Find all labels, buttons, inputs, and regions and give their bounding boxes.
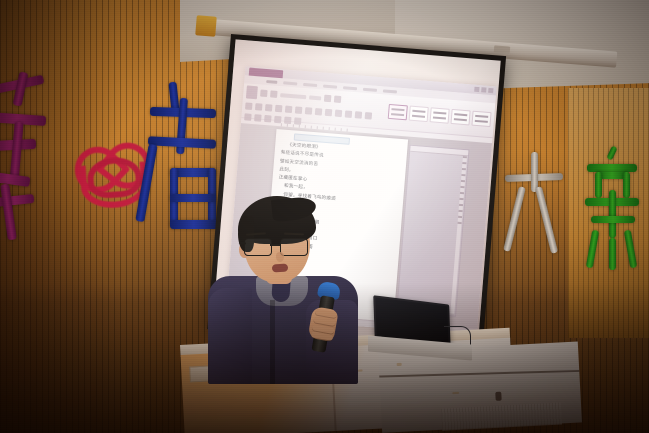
underline-icon[interactable] [265,104,273,112]
minimize-icon[interactable] [474,87,479,92]
photo-scene: 《天空的眼泪》 有些话说不尽是传说 譬如天空流淌的苦 此刻， 正藏匿在掌心 和我… [0,0,649,433]
speaker-nose [276,252,284,262]
foreground-shadow [0,283,649,433]
window-controls[interactable] [474,87,493,94]
glasses-lens-right [280,238,308,256]
ribbon-tab-view[interactable] [383,89,397,93]
text-highlight-icon[interactable] [305,107,313,115]
ribbon-tab-review[interactable] [363,87,377,91]
cut-icon[interactable] [260,90,268,98]
style-normal[interactable] [388,104,408,120]
style-title[interactable] [471,111,491,127]
roller-endcap [195,15,217,37]
tinsel-character-partial [0,78,76,248]
bold-icon[interactable] [245,102,253,110]
glasses-bridge [270,244,280,246]
roller-bracket [494,45,511,53]
subscript-icon[interactable] [285,106,293,114]
line-spacing-icon[interactable] [365,112,373,120]
numbering-icon[interactable] [335,110,343,118]
indent-icon[interactable] [284,117,292,125]
paste-icon[interactable] [246,85,258,99]
superscript-icon[interactable] [295,106,303,114]
style-heading-1[interactable] [430,107,450,123]
tinsel-heart [71,138,147,205]
strikethrough-icon[interactable] [275,105,283,113]
speaker-mouth [272,263,289,272]
font-color-icon[interactable] [315,108,323,116]
ribbon-tab-layout[interactable] [303,82,317,86]
show-marks-icon[interactable] [274,116,282,124]
tinsel-character-da [503,152,569,262]
style-heading-2[interactable] [450,109,470,125]
sort-icon[interactable] [264,115,272,123]
shading-icon[interactable] [254,114,262,122]
font-name-box[interactable] [280,93,306,99]
copy-icon[interactable] [270,90,278,98]
grow-font-icon[interactable] [324,95,332,103]
align-center-icon[interactable] [355,111,363,119]
navigation-pane-header [410,146,468,157]
font-size-box[interactable] [309,95,321,100]
style-no-spacing[interactable] [409,106,429,122]
ribbon-tab-mailings[interactable] [343,86,357,90]
tinsel-character-zhai [583,150,645,272]
glasses-lens-left [244,238,272,256]
borders-icon[interactable] [244,113,252,121]
align-left-icon[interactable] [345,110,353,118]
outdent-icon[interactable] [294,117,302,125]
maximize-icon[interactable] [481,87,486,92]
ribbon-tab-insert[interactable] [283,81,297,85]
close-icon[interactable] [488,88,493,93]
shrink-font-icon[interactable] [334,95,342,103]
ribbon-tab-home[interactable] [266,79,277,83]
bullets-icon[interactable] [325,109,333,117]
italic-icon[interactable] [255,103,263,111]
ribbon-tab-references[interactable] [323,84,337,88]
